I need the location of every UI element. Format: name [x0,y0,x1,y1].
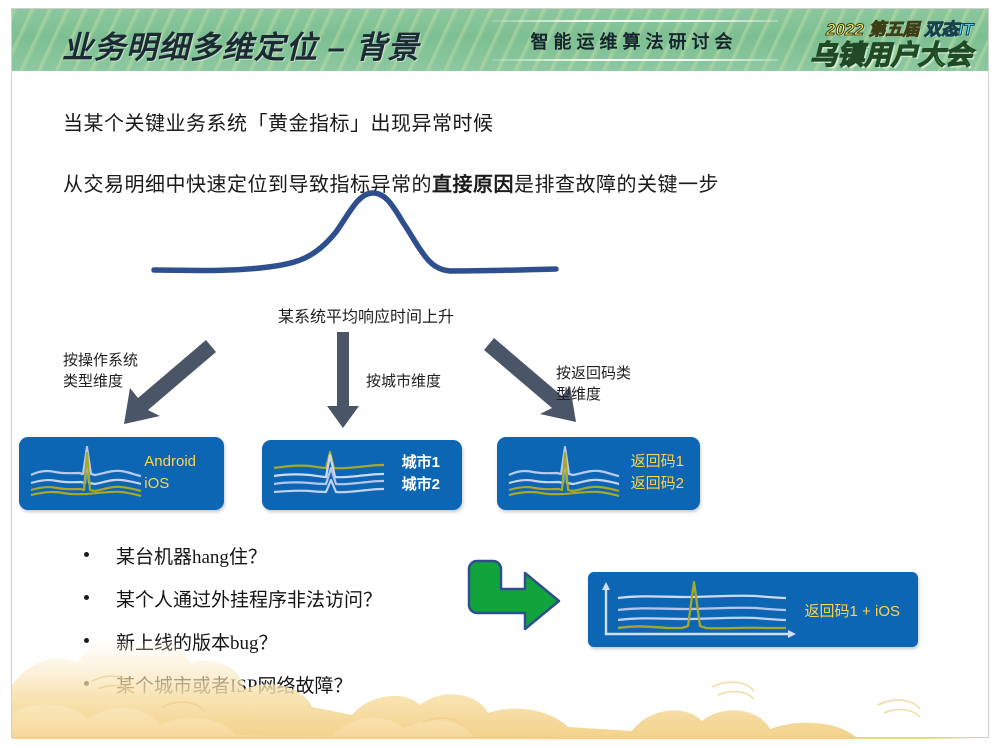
arrow-label-retcode-line2: 型维度 [556,384,631,405]
card-os-label-2: iOS [144,473,196,495]
card-os[interactable]: Android iOS [19,437,224,510]
header-subtitle: 智能运维算法研讨会 [484,28,784,54]
header-subtitle-block: 智能运维算法研讨会 [484,17,784,63]
arrow-label-os: 按操作系统 类型维度 [63,350,138,392]
intro-paragraph-1: 当某个关键业务系统「黄金指标」出现异常时候 [63,107,494,136]
bullet-dot-icon [84,552,89,557]
logo-line-2: 乌镇用户大会 [810,33,972,71]
list-item-label: 某台机器hang住？ [116,542,267,569]
page-title: 业务明细多维定位 – 背景 [62,22,419,67]
card-city-labels: 城市1 城市2 [402,452,440,496]
arrow-label-os-line2: 类型维度 [63,371,138,392]
result-card[interactable]: 返回码1 + iOS [588,572,918,647]
arrow-label-retcode: 按返回码类 型维度 [556,363,631,405]
card-city-label-2: 城市2 [402,474,440,496]
card-city-label-1: 城市1 [402,452,440,474]
list-item-label: 新上线的版本bug？ [116,628,278,655]
conference-logo: 2022 第五届 双态IT 乌镇用户大会 [810,13,986,71]
sparkline-retcode-icon [503,443,623,505]
arrow-label-city: 按城市维度 [366,371,441,392]
bullet-dot-icon [84,681,89,686]
header-rule-top [492,20,778,22]
list-item: 某个城市或者ISP网络故障？ [84,669,504,712]
arrow-city-dimension [325,332,361,430]
green-elbow-arrow-icon [463,559,563,643]
list-item: 某台机器hang住？ [84,540,504,583]
hypothesis-list: 某台机器hang住？ 某个人通过外挂程序非法访问？ 新上线的版本bug？ 某个城… [84,540,504,712]
curve-caption: 某系统平均响应时间上升 [278,303,454,327]
arrow-label-os-line1: 按操作系统 [63,350,138,371]
list-item-label: 某个城市或者ISP网络故障？ [116,671,352,698]
list-item-label: 某个人通过外挂程序非法访问？ [116,585,382,612]
sparkline-city-icon [268,446,388,504]
list-item: 某个人通过外挂程序非法访问？ [84,583,504,626]
header-rule-bottom [492,59,778,61]
bullet-dot-icon [84,595,89,600]
card-city[interactable]: 城市1 城市2 [262,440,462,510]
slide-header: 业务明细多维定位 – 背景 智能运维算法研讨会 2022 第五届 双态IT 乌镇… [12,9,988,71]
card-os-label-1: Android [144,451,196,473]
card-retcode-labels: 返回码1 返回码2 [631,451,684,495]
response-time-curve [150,186,560,286]
logo-line-2-text: 乌镇用户大会 [810,40,972,70]
result-card-label: 返回码1 + iOS [805,600,900,621]
list-item: 新上线的版本bug？ [84,626,504,669]
card-retcode-label-1: 返回码1 [631,451,684,473]
card-retcode[interactable]: 返回码1 返回码2 [497,437,700,510]
slide-root: 业务明细多维定位 – 背景 智能运维算法研讨会 2022 第五届 双态IT 乌镇… [0,0,1000,748]
bullet-dot-icon [84,638,89,643]
sparkline-os-icon [25,443,145,505]
arrow-label-city-line1: 按城市维度 [366,371,441,392]
card-retcode-label-2: 返回码2 [631,473,684,495]
card-os-labels: Android iOS [144,451,196,495]
arrow-label-retcode-line1: 按返回码类 [556,363,631,384]
result-chart-icon [596,578,802,642]
